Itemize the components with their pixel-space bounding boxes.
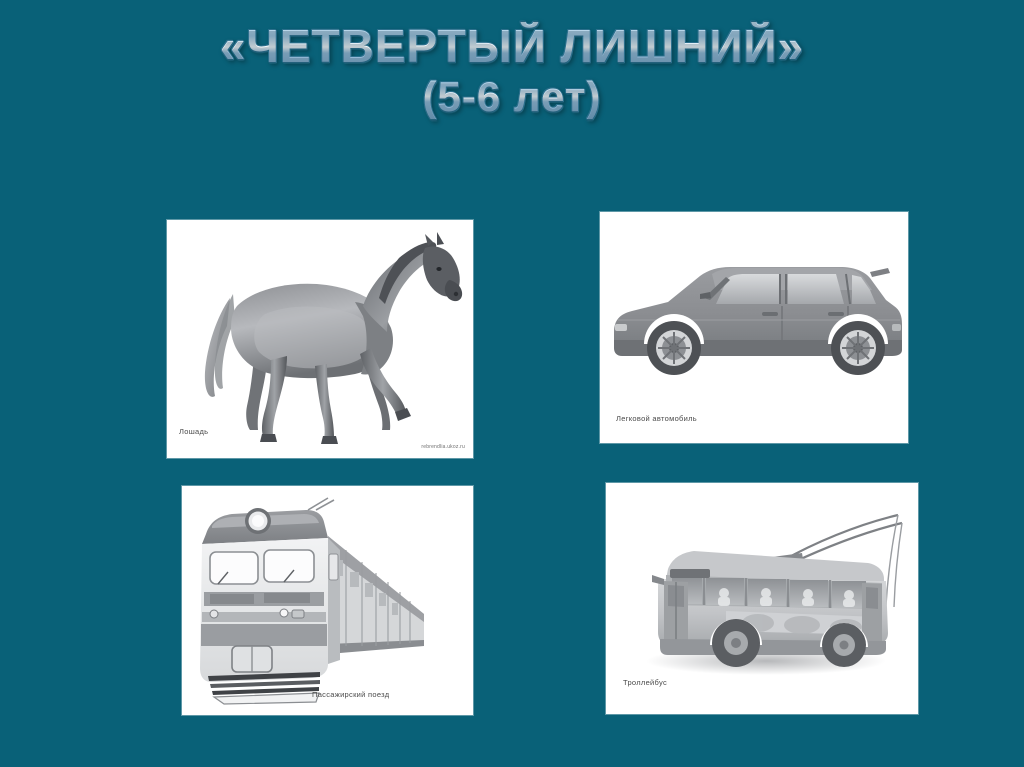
card-label-train: Пассажирский поезд (312, 690, 389, 699)
card-horse[interactable]: Лошадь rebrendlia.ukoz.ru (167, 220, 473, 458)
card-car[interactable]: Легковой автомобиль (600, 212, 908, 443)
page-title: «ЧЕТВЕРТЫЙ ЛИШНИЙ» (5-6 лет) (0, 22, 1024, 119)
horse-illustration-icon (167, 220, 473, 458)
card-label-horse: Лошадь (179, 427, 208, 436)
car-illustration-icon (600, 212, 908, 443)
title-line-secondary: (5-6 лет) (0, 74, 1024, 119)
card-label-trolleybus: Троллейбус (623, 678, 667, 687)
card-credit-horse: rebrendlia.ukoz.ru (421, 444, 465, 450)
train-illustration-icon (182, 486, 473, 715)
title-line-primary: «ЧЕТВЕРТЫЙ ЛИШНИЙ» (0, 22, 1024, 72)
slide-canvas: «ЧЕТВЕРТЫЙ ЛИШНИЙ» (5-6 лет) (0, 0, 1024, 767)
card-train[interactable]: Пассажирский поезд (182, 486, 473, 715)
card-trolleybus[interactable]: Троллейбус (606, 483, 918, 714)
card-label-car: Легковой автомобиль (616, 414, 697, 423)
